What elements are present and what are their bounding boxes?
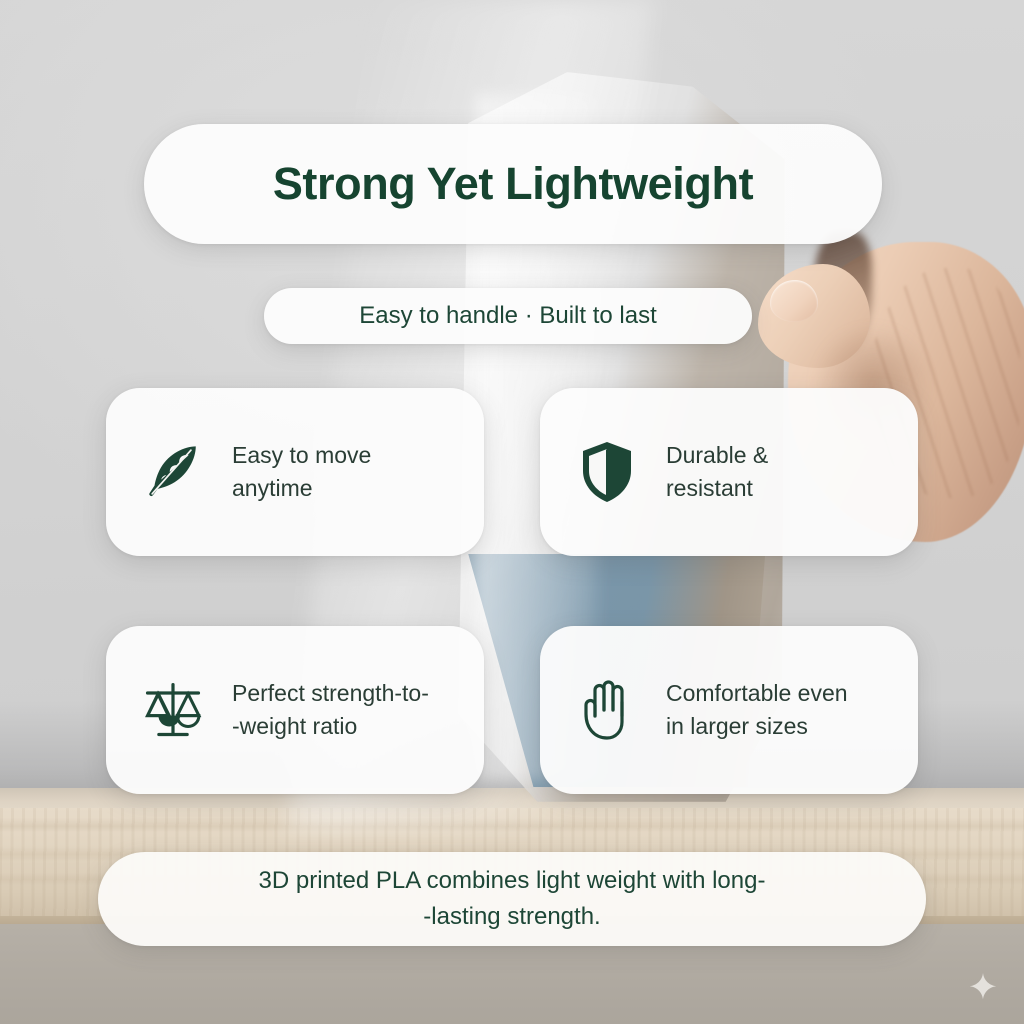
footer-line-1: 3D printed PLA combines light weight wit… bbox=[259, 864, 766, 898]
sparkle-icon bbox=[968, 972, 998, 1002]
feature-card-text: Comfortable even in larger sizes bbox=[666, 677, 848, 742]
balance-scale-icon bbox=[140, 677, 206, 743]
infographic-canvas: Strong Yet Lightweight Easy to handle · … bbox=[0, 0, 1024, 1024]
feature-line-1: Easy to move bbox=[232, 442, 371, 468]
shield-icon bbox=[574, 439, 640, 505]
subtitle-pill: Easy to handle · Built to last bbox=[264, 288, 752, 344]
feature-card-easy-to-move[interactable]: Easy to move anytime bbox=[106, 388, 484, 556]
feature-line-2: anytime bbox=[232, 472, 371, 505]
feature-line-2: in larger sizes bbox=[666, 710, 848, 743]
feature-line-2: -weight ratio bbox=[232, 710, 429, 743]
feature-line-1: Perfect strength-to- bbox=[232, 680, 429, 706]
feature-card-text: Easy to move anytime bbox=[232, 439, 371, 504]
feature-card-strength-ratio[interactable]: Perfect strength-to- -weight ratio bbox=[106, 626, 484, 794]
title-pill: Strong Yet Lightweight bbox=[144, 124, 882, 244]
feature-card-text: Durable & resistant bbox=[666, 439, 768, 504]
feature-card-durable[interactable]: Durable & resistant bbox=[540, 388, 918, 556]
hand-icon bbox=[574, 677, 640, 743]
footer-line-2: -lasting strength. bbox=[423, 900, 600, 934]
feature-line-2: resistant bbox=[666, 472, 768, 505]
feature-card-text: Perfect strength-to- -weight ratio bbox=[232, 677, 429, 742]
feature-card-comfortable[interactable]: Comfortable even in larger sizes bbox=[540, 626, 918, 794]
feature-grid: Easy to move anytime Durable & resistant bbox=[106, 388, 918, 794]
feature-line-1: Comfortable even bbox=[666, 680, 848, 706]
page-subtitle: Easy to handle · Built to last bbox=[359, 302, 657, 330]
thumbnail bbox=[770, 280, 818, 322]
feature-line-1: Durable & bbox=[666, 442, 768, 468]
page-title: Strong Yet Lightweight bbox=[273, 158, 753, 210]
footer-pill: 3D printed PLA combines light weight wit… bbox=[98, 852, 926, 946]
feather-icon bbox=[140, 439, 206, 505]
